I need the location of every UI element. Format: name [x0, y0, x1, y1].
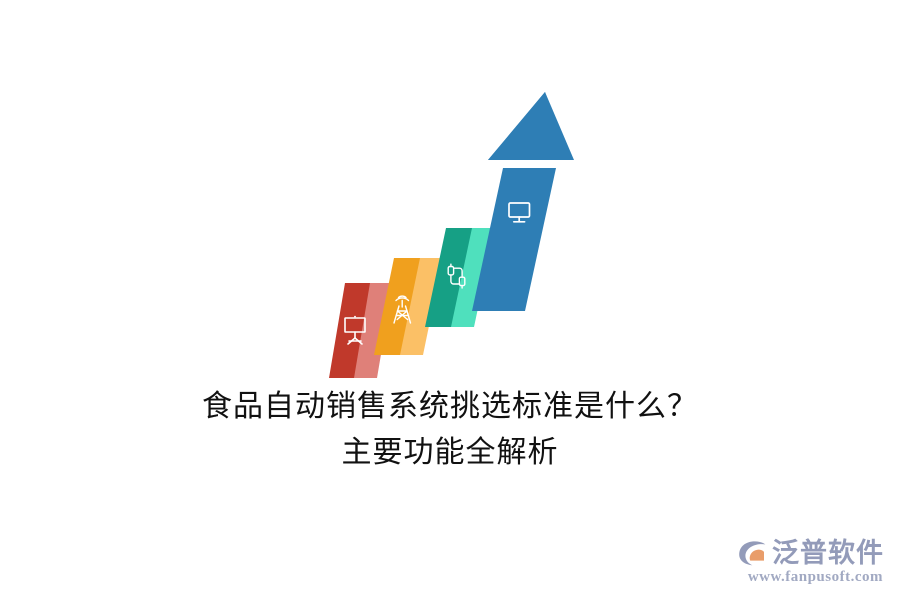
- brand-watermark-row: 泛普软件: [736, 538, 884, 570]
- fanpu-logo-icon: [736, 538, 768, 570]
- banner-root: 食品自动销售系统挑选标准是什么？ 主要功能全解析 泛普软件 www.fanpus…: [0, 0, 900, 600]
- usb-cable-icon: [448, 264, 465, 288]
- brand-name: 泛普软件: [772, 539, 884, 569]
- headline-line-1: 食品自动销售系统挑选标准是什么？: [0, 384, 900, 430]
- page-title: 食品自动销售系统挑选标准是什么？ 主要功能全解析: [0, 384, 900, 476]
- blue-arrow-shaft: [472, 168, 556, 311]
- bar-red: [329, 283, 393, 378]
- headline-line-2: 主要功能全解析: [0, 430, 900, 476]
- bar-orange: [374, 258, 443, 355]
- monitor-icon: [509, 203, 530, 222]
- bar-teal-front-face: [425, 228, 472, 327]
- brand-url: www.fanpusoft.com: [748, 568, 883, 586]
- ascending-arrow-graphic: [0, 0, 900, 400]
- bar-red-front-face: [329, 283, 370, 378]
- bar-blue-arrow: [472, 92, 574, 311]
- blue-arrow-head: [488, 92, 568, 160]
- brand-watermark: 泛普软件 www.fanpusoft.com: [736, 538, 884, 586]
- bar-teal-side-face: [449, 228, 495, 327]
- bar-orange-front-face: [374, 258, 420, 355]
- blue-arrow-head-joint: [488, 92, 574, 160]
- broadcast-tower-icon: [394, 296, 411, 323]
- bar-red-side-face: [352, 283, 393, 378]
- bar-orange-side-face: [398, 258, 443, 355]
- presentation-screen-icon: [345, 316, 365, 344]
- bar-teal: [425, 228, 495, 327]
